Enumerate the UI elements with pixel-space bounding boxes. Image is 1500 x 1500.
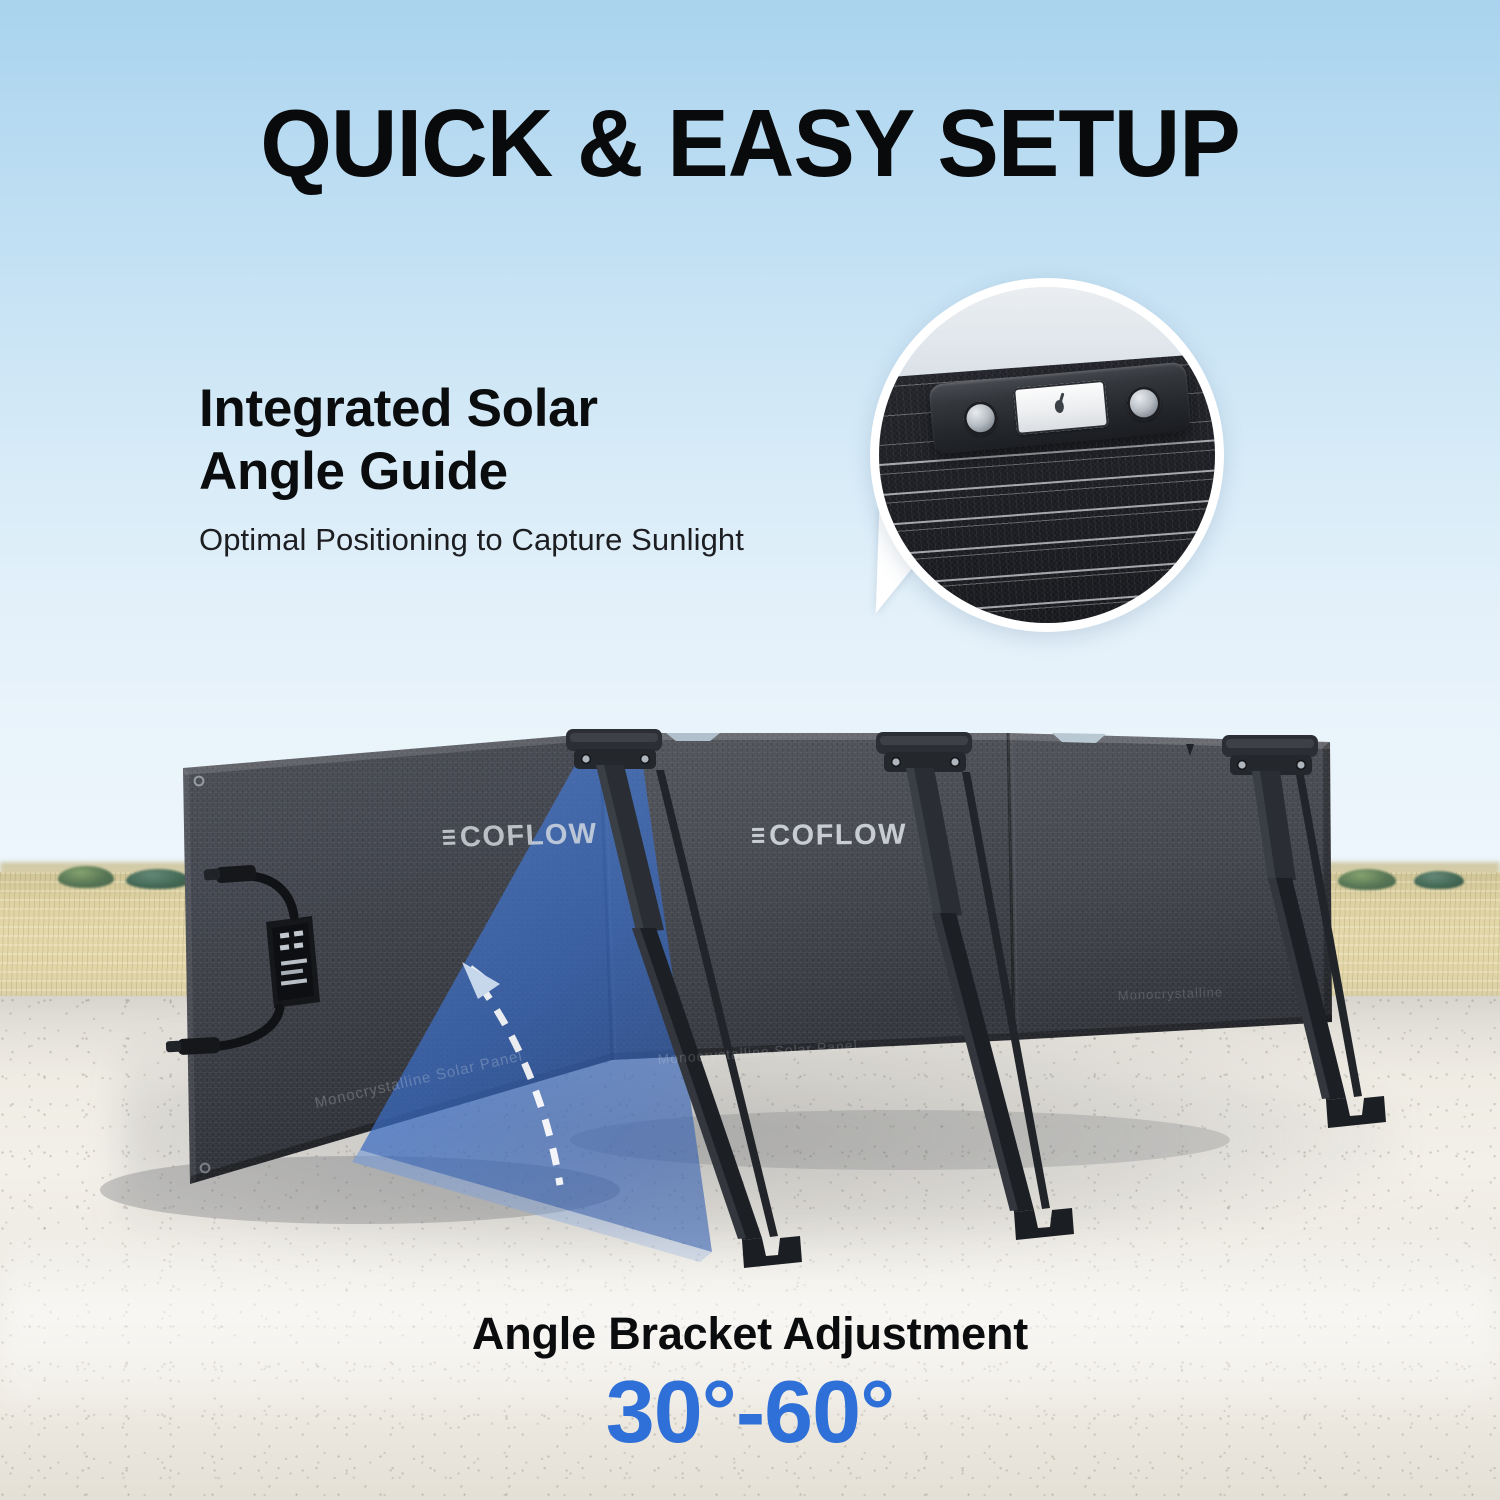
brand-logo-2: COFLOW [752,819,907,852]
brand-logo-1: COFLOW [442,818,599,854]
feature-copy-block: Integrated Solar Angle Guide Optimal Pos… [199,378,879,560]
sundial-window [1013,380,1109,435]
solar-panel-illustration: COFLOW COFLOW Monocrystalline Solar Pane… [0,0,1500,1500]
callout-bubble [870,278,1224,632]
page-title: QUICK & EASY SETUP [30,96,1470,192]
bottom-caption-title: Angle Bracket Adjustment [0,1308,1500,1360]
bottom-caption: Angle Bracket Adjustment 30°-60° [0,1308,1500,1458]
feature-title: Integrated Solar Angle Guide [199,378,879,503]
svg-text:COFLOW: COFLOW [769,819,907,852]
product-feature-graphic: COFLOW COFLOW Monocrystalline Solar Pane… [0,0,1500,1500]
feature-subtitle: Optimal Positioning to Capture Sunlight [199,521,879,560]
feature-title-line2: Angle Guide [199,441,879,504]
sundial-pin-icon [1054,400,1064,414]
solar-panel-assembly: COFLOW COFLOW Monocrystalline Solar Pane… [0,0,1500,1500]
grommet-icon [962,400,999,437]
callout-image [879,287,1215,623]
grommet-icon [1125,385,1162,422]
junction-box [266,916,320,1008]
angle-range-value: 30°-60° [0,1366,1500,1458]
feature-title-line1: Integrated Solar [199,378,879,441]
svg-text:COFLOW: COFLOW [459,818,599,854]
